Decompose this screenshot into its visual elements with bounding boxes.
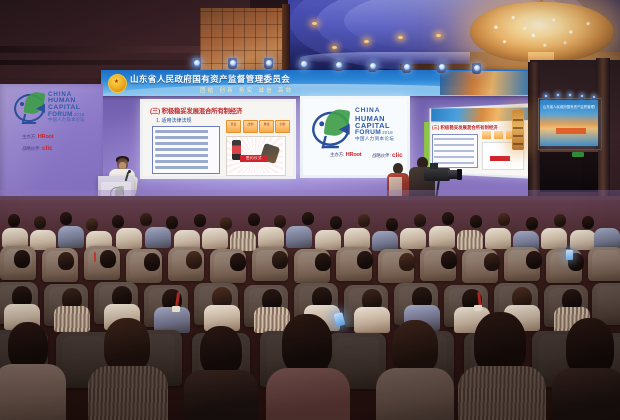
audience-head xyxy=(554,214,566,227)
audience-body xyxy=(400,228,426,249)
name-badge xyxy=(474,305,482,311)
stage-light xyxy=(192,58,201,69)
slide-tag-label: 重组 xyxy=(260,121,273,127)
stage-light xyxy=(592,95,596,100)
banner-partner-row: 战略伙伴: clic xyxy=(22,145,53,152)
audience-body xyxy=(457,230,483,250)
audience-body xyxy=(344,228,370,249)
audience-head xyxy=(484,253,500,271)
slide-title: (三) 积极稳妥发展混合所有制经济 xyxy=(150,106,286,116)
audience-body xyxy=(372,231,398,251)
right-slide-tag xyxy=(482,131,491,139)
audience-head xyxy=(357,251,373,269)
audience-head-foreground xyxy=(8,322,48,370)
emblem-star-icon: ★ xyxy=(113,79,120,86)
banner-title: 山东省人民政府国有资产监督管理委员会 xyxy=(130,73,390,85)
partner-label: 战略伙伴: xyxy=(22,146,41,151)
logo-line-human-capital: HUMAN CAPITAL xyxy=(48,98,102,112)
stage-light xyxy=(299,59,308,70)
sconce-segment xyxy=(513,135,523,137)
audience-head xyxy=(442,212,454,225)
microphone-icon xyxy=(128,170,131,173)
downlight xyxy=(398,36,403,39)
audience-head xyxy=(140,213,152,226)
lanyard xyxy=(94,252,96,262)
audience-head-foreground xyxy=(392,320,438,374)
slide-bullet-line xyxy=(155,142,215,145)
audience-body xyxy=(2,228,28,248)
audience-head xyxy=(144,253,160,271)
partner-label: 战略伙伴: xyxy=(372,153,391,158)
slide-tag: 创新 xyxy=(275,120,290,133)
downlight xyxy=(364,40,369,43)
center-logo-group xyxy=(312,108,349,145)
audience-head xyxy=(302,212,314,225)
phone-screen xyxy=(566,250,573,260)
audience-head xyxy=(441,251,457,269)
china-human-capital-logo-icon xyxy=(312,108,349,145)
slide-bullet-line xyxy=(155,148,215,151)
logo-line-human-capital: HUMAN CAPITAL xyxy=(355,115,411,130)
audience-head xyxy=(112,215,124,228)
right-slide-line xyxy=(434,156,474,158)
stage-light xyxy=(568,93,572,98)
side-screen-banner-text: 山东省人民政府国有资产监督管理委员会 xyxy=(543,104,595,112)
partner-name: clic xyxy=(42,145,53,152)
audience-head xyxy=(86,218,98,231)
audience-body-foreground xyxy=(458,366,546,420)
audience-body-foreground xyxy=(0,364,66,420)
center-wordmark: CHINA HUMAN CAPITAL FORUM 2018 中国人力资本论坛 xyxy=(355,108,411,141)
logo-line-chinese: 中国人力资本论坛 xyxy=(48,118,102,122)
downlight xyxy=(436,34,441,37)
audience-head xyxy=(272,251,288,269)
audience-head-foreground xyxy=(282,314,332,374)
audience-head xyxy=(414,214,426,227)
audience-body-foreground xyxy=(376,368,454,420)
audience-body xyxy=(429,226,455,248)
audience-head xyxy=(582,216,594,229)
slide-bullet-line xyxy=(155,160,215,163)
audience-head xyxy=(498,213,510,226)
audience-head xyxy=(8,214,20,227)
audience-head xyxy=(315,253,331,271)
host-label: 主办方: xyxy=(22,134,36,139)
audience-body xyxy=(145,227,171,248)
center-partner-row: 战略伙伴: clic xyxy=(372,152,403,159)
banner-host-row: 主办方: HRoot xyxy=(22,134,53,140)
host-name: HRoot xyxy=(38,134,54,140)
sconce-segment xyxy=(513,127,523,129)
slide-bullet-line xyxy=(155,130,215,133)
logo-year: 2018 xyxy=(382,131,393,135)
audience-body-foreground xyxy=(184,370,258,420)
chair xyxy=(588,247,620,281)
slide-tag-label: 混合 xyxy=(227,121,240,127)
audience-body-foreground xyxy=(266,368,350,420)
right-slide-photo-caption xyxy=(490,156,510,161)
audience-head xyxy=(386,218,398,231)
audience-head xyxy=(330,216,342,229)
partner-name: clic xyxy=(392,152,403,159)
stage-light xyxy=(580,94,584,99)
hall-doorway xyxy=(540,150,598,192)
name-badge xyxy=(172,306,180,312)
banner-photo-graphic xyxy=(440,71,530,95)
host-label: 主办方: xyxy=(330,152,344,157)
banner-subtitle: 团结 创新 务实 诚信 高效 xyxy=(200,86,340,95)
stage-light xyxy=(334,60,343,71)
audience-head xyxy=(526,251,542,269)
downlight xyxy=(332,46,337,49)
audience-head xyxy=(526,217,538,230)
audience-head xyxy=(186,251,202,269)
audience-head xyxy=(166,216,178,229)
audience-head xyxy=(470,215,482,228)
slide-bullet-line xyxy=(155,136,215,139)
audience-body xyxy=(58,226,84,248)
china-human-capital-logo-icon xyxy=(14,91,44,121)
stage-light xyxy=(264,58,273,69)
audience-body-foreground xyxy=(552,368,620,420)
audience-body xyxy=(54,306,90,332)
audience-head xyxy=(399,253,415,271)
audience-body xyxy=(258,227,284,248)
audience-head xyxy=(60,212,72,225)
host-name: HRoot xyxy=(346,152,362,158)
stage-light xyxy=(544,94,548,99)
slide-bullet-line xyxy=(155,166,215,169)
audience-head xyxy=(14,250,30,268)
audience-head xyxy=(58,252,74,270)
slide-tag: 改制 xyxy=(243,120,258,133)
stage-light xyxy=(472,63,481,74)
audience-body xyxy=(354,307,390,333)
audience-head xyxy=(248,213,260,226)
sconce-segment xyxy=(513,119,523,121)
slide-tag-label: 创新 xyxy=(276,121,289,127)
audience-body-foreground xyxy=(88,366,168,420)
stage-light xyxy=(437,62,446,73)
slide-photo-caption-text: 签约仪式 xyxy=(240,155,268,162)
banner-wordmark: CHINA HUMAN CAPITAL FORUM 2018 中国人力资本论坛 xyxy=(48,92,102,123)
audience-body xyxy=(116,228,142,249)
conference-hall-photo: ★ 山东省人民政府国有资产监督管理委员会 团结 创新 务实 诚信 高效 CHIN… xyxy=(0,0,620,420)
right-slide-tag xyxy=(494,131,503,139)
slide-photo-caption: 签约仪式 xyxy=(240,155,268,162)
video-camera xyxy=(424,168,450,181)
audience-body xyxy=(230,231,256,251)
banner-logo-group xyxy=(14,91,44,121)
sconce-segment xyxy=(513,143,523,145)
downlight xyxy=(312,22,317,25)
audience-body xyxy=(541,228,567,249)
right-slide-line xyxy=(434,138,474,140)
side-screen-highlight xyxy=(556,128,586,134)
stage-light xyxy=(368,61,377,72)
camera-lens-hood xyxy=(457,169,462,180)
right-slide-line xyxy=(434,150,474,152)
audience-body xyxy=(30,230,56,250)
center-host-row: 主办方: HRoot xyxy=(330,152,361,158)
audience-head xyxy=(230,253,246,271)
audience-head xyxy=(358,214,370,227)
audience-body xyxy=(202,228,228,249)
exit-sign xyxy=(572,152,584,157)
right-slide-line xyxy=(434,162,474,164)
slide-tag: 重组 xyxy=(259,120,274,133)
slide-tag: 混合 xyxy=(226,120,241,133)
right-slide-line xyxy=(434,144,474,146)
audience-head xyxy=(194,214,206,227)
stage-light xyxy=(556,93,560,98)
audience-head-foreground xyxy=(104,318,150,372)
audience-head-foreground xyxy=(474,312,526,374)
audience-head-foreground xyxy=(200,326,242,376)
logo-line-chinese: 中国人力资本论坛 xyxy=(355,137,411,142)
audience-body xyxy=(286,226,312,248)
stage-light xyxy=(402,62,411,73)
audience-head xyxy=(34,216,46,229)
slide-tag-label: 改制 xyxy=(244,121,257,127)
slide-bullet-line xyxy=(155,154,215,157)
stage-light xyxy=(228,58,237,69)
audience-body xyxy=(485,228,511,249)
camera-viewfinder xyxy=(430,163,438,169)
audience-head xyxy=(100,250,116,268)
audience-body xyxy=(315,230,341,250)
